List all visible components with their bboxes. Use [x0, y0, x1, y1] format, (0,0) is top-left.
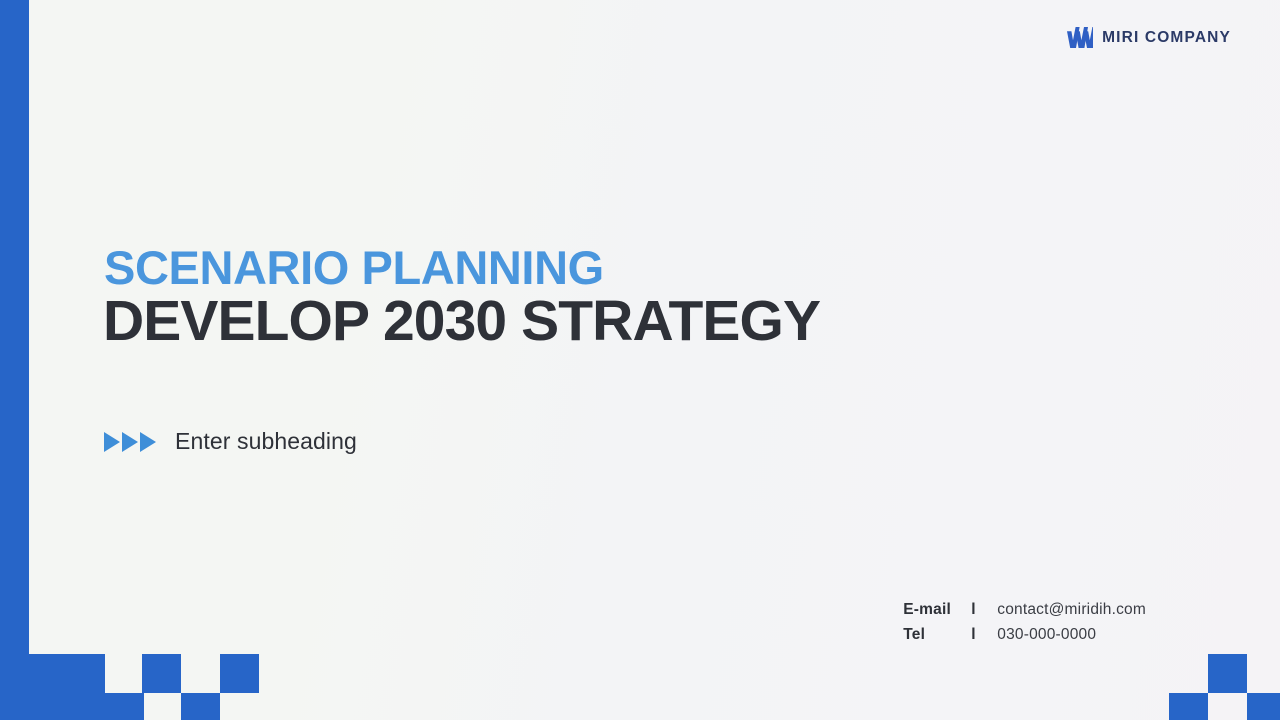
left-accent-bar [0, 0, 29, 720]
slide-eyebrow: SCENARIO PLANNING [104, 240, 604, 295]
contact-label: Tel [903, 626, 971, 644]
slide-subheading: Enter subheading [104, 428, 357, 455]
contact-separator: l [971, 601, 997, 619]
play-triangle-icon [104, 432, 120, 452]
decor-square [1247, 693, 1280, 720]
brand-logo: MIRI COMPANY [1067, 27, 1231, 48]
decor-square [1208, 654, 1247, 693]
contact-info: E-mail l contact@miridih.com Tel l 030-0… [903, 601, 1146, 651]
play-triangle-icon [140, 432, 156, 452]
decor-square [220, 654, 259, 693]
contact-email-value: contact@miridih.com [997, 601, 1146, 619]
presentation-slide: MIRI COMPANY SCENARIO PLANNING DEVELOP 2… [0, 0, 1280, 720]
contact-tel-value: 030-000-0000 [997, 626, 1096, 644]
contact-separator: l [971, 626, 997, 644]
miri-zigzag-logo-icon [1067, 27, 1093, 48]
play-triangle-icon [122, 432, 138, 452]
decor-block [0, 693, 144, 720]
subheading-text: Enter subheading [175, 428, 357, 455]
contact-row-email: E-mail l contact@miridih.com [903, 601, 1146, 626]
decor-block [0, 654, 105, 693]
contact-row-tel: Tel l 030-000-0000 [903, 626, 1146, 651]
decor-square [142, 654, 181, 693]
triple-arrow-bullet [104, 432, 156, 452]
decor-square [181, 693, 220, 720]
brand-name: MIRI COMPANY [1102, 29, 1231, 47]
decor-square [1169, 693, 1208, 720]
contact-label: E-mail [903, 601, 971, 619]
page-title: DEVELOP 2030 STRATEGY [103, 288, 820, 354]
